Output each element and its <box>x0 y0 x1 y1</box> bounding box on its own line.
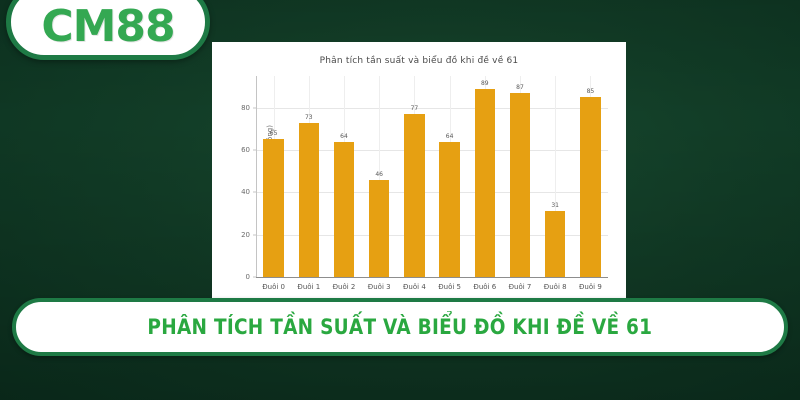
bar[interactable] <box>580 97 600 277</box>
x-tick-label: Đuôi 9 <box>579 283 602 291</box>
y-tick-mark <box>253 107 256 108</box>
bar[interactable] <box>263 139 283 277</box>
bar[interactable] <box>439 142 459 277</box>
y-axis-spine <box>256 76 257 278</box>
x-tick-label: Đuôi 3 <box>368 283 391 291</box>
bar[interactable] <box>334 142 354 277</box>
bar-value-label: 31 <box>551 202 559 209</box>
bar[interactable] <box>510 93 530 277</box>
x-tick-label: Đuôi 4 <box>403 283 426 291</box>
bar-value-label: 77 <box>411 105 419 112</box>
bar[interactable] <box>545 211 565 277</box>
x-axis-spine <box>256 277 608 278</box>
plot-area: 02040608065Đuôi 073Đuôi 164Đuôi 246Đuôi … <box>256 76 608 278</box>
chart-panel: Phân tích tần suất và biểu đồ khi đề về … <box>212 42 626 308</box>
headline-banner-text: PHÂN TÍCH TẦN SUẤT VÀ BIỂU ĐỒ KHI ĐỀ VỀ … <box>148 315 653 339</box>
bar[interactable] <box>299 123 319 277</box>
x-tick-label: Đuôi 7 <box>509 283 532 291</box>
x-tick-label: Đuôi 8 <box>544 283 567 291</box>
y-tick-mark <box>253 150 256 151</box>
bar-value-label: 64 <box>446 133 454 140</box>
y-tick-label: 60 <box>241 146 250 154</box>
x-tick-label: Đuôi 6 <box>473 283 496 291</box>
bar-value-label: 85 <box>587 88 595 95</box>
bar-value-label: 64 <box>340 133 348 140</box>
y-tick-label: 80 <box>241 104 250 112</box>
brand-logo-badge: CM88 <box>6 0 210 60</box>
y-tick-mark <box>253 234 256 235</box>
y-tick-label: 40 <box>241 188 250 196</box>
y-tick-label: 0 <box>246 273 250 281</box>
bar-value-label: 87 <box>516 84 524 91</box>
y-tick-mark <box>253 192 256 193</box>
x-tick-label: Đuôi 2 <box>333 283 356 291</box>
bar[interactable] <box>475 89 495 277</box>
bar[interactable] <box>404 114 424 277</box>
bar-value-label: 65 <box>270 130 278 137</box>
x-tick-label: Đuôi 1 <box>297 283 320 291</box>
bar-value-label: 89 <box>481 80 489 87</box>
x-tick-label: Đuôi 0 <box>262 283 285 291</box>
chart-title: Phân tích tần suất và biểu đồ khi đề về … <box>212 56 626 66</box>
bar-value-label: 46 <box>375 171 383 178</box>
y-tick-label: 20 <box>241 231 250 239</box>
brand-logo-text: CM88 <box>41 0 174 49</box>
headline-banner: PHÂN TÍCH TẦN SUẤT VÀ BIỂU ĐỒ KHI ĐỀ VỀ … <box>12 298 788 356</box>
y-tick-mark <box>253 277 256 278</box>
bar[interactable] <box>369 180 389 277</box>
bar-value-label: 73 <box>305 114 313 121</box>
x-tick-label: Đuôi 5 <box>438 283 461 291</box>
